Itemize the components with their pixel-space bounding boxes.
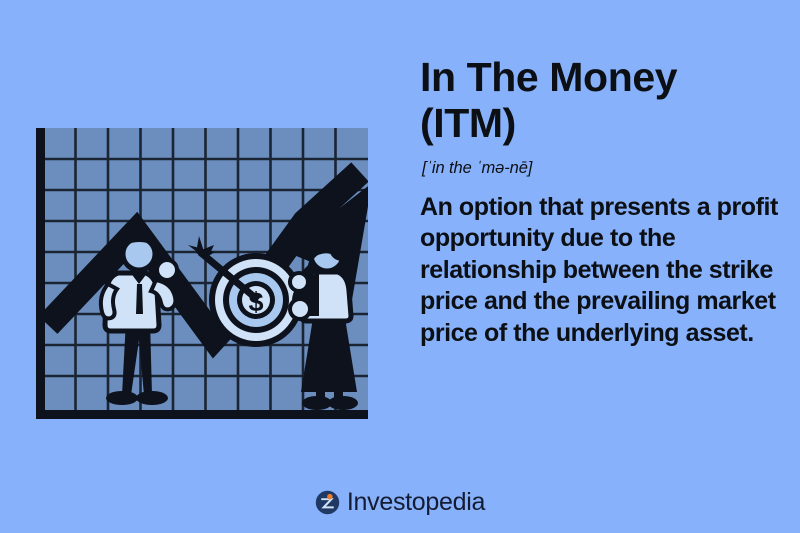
chart-y-axis bbox=[36, 128, 45, 410]
term-text-column: In The Money (ITM) [ˈin the ˈmə-nē] An o… bbox=[420, 54, 788, 349]
pronunciation-text: [ˈin the ˈmə-nē] bbox=[422, 159, 788, 178]
definition-text: An option that presents a profit opportu… bbox=[420, 192, 788, 350]
investopedia-logo-icon bbox=[315, 490, 340, 515]
brand-name: Investopedia bbox=[347, 490, 485, 515]
illustration-chart: $ bbox=[0, 0, 400, 470]
definition-card: $ bbox=[0, 0, 800, 533]
brand-footer: Investopedia bbox=[0, 490, 800, 515]
illustration-svg: $ bbox=[0, 0, 400, 470]
page-title: In The Money (ITM) bbox=[420, 54, 788, 147]
chart-x-axis bbox=[36, 410, 368, 419]
